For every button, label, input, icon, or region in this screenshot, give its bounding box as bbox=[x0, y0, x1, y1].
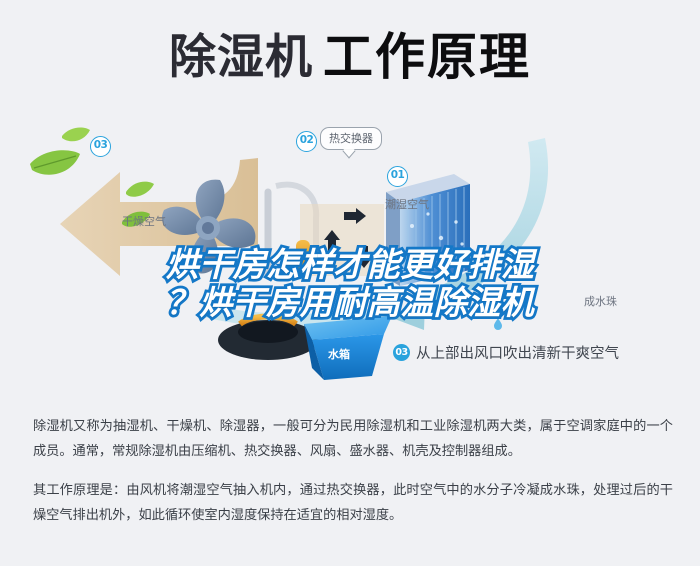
label-water-tank: 水箱 bbox=[328, 346, 350, 362]
leaf-icon-1 bbox=[30, 150, 80, 174]
overlay-headline: 烘干房怎样才能更好排湿 ？烘干房用耐高温除湿机 bbox=[0, 246, 700, 322]
page-title: 除湿机 工作原理 bbox=[0, 22, 700, 92]
page-title-part1: 除湿机 bbox=[169, 34, 313, 81]
overlay-headline-line1: 烘干房怎样才能更好排湿 bbox=[166, 245, 535, 284]
badge-03-caption: 03 bbox=[393, 344, 410, 361]
leaf-icon-3 bbox=[126, 182, 154, 197]
label-humid-air: 潮湿空气 bbox=[385, 196, 429, 212]
diagram-bottom-caption-text: 从上部出风口吹出清新干爽空气 bbox=[416, 342, 619, 363]
overlay-headline-line2: ？烘干房用耐高温除湿机 bbox=[0, 284, 700, 322]
badge-01: 01 bbox=[387, 166, 408, 187]
callout-heat-exchanger-text: 热交换器 bbox=[329, 132, 373, 145]
page-root: 除湿机 工作原理 bbox=[0, 0, 700, 566]
callout-heat-exchanger: 热交换器 bbox=[320, 127, 382, 150]
diagram-bottom-caption: 03 从上部出风口吹出清新干爽空气 bbox=[393, 342, 619, 363]
page-title-part2: 工作原理 bbox=[323, 32, 531, 82]
article-paragraph-1: 除湿机又称为抽湿机、干燥机、除湿器，一般可分为民用除湿机和工业除湿机两大类，属于… bbox=[33, 414, 673, 464]
badge-02: 02 bbox=[296, 131, 317, 152]
badge-03-left: 03 bbox=[90, 136, 111, 157]
article-paragraph-2: 其工作原理是：由风机将潮湿空气抽入机内，通过热交换器，此时空气中的水分子冷凝成水… bbox=[33, 478, 673, 528]
article-body: 除湿机又称为抽湿机、干燥机、除湿器，一般可分为民用除湿机和工业除湿机两大类，属于… bbox=[33, 414, 673, 528]
leaf-icon-2 bbox=[62, 128, 90, 142]
label-dry-air: 干燥空气 bbox=[122, 213, 166, 229]
